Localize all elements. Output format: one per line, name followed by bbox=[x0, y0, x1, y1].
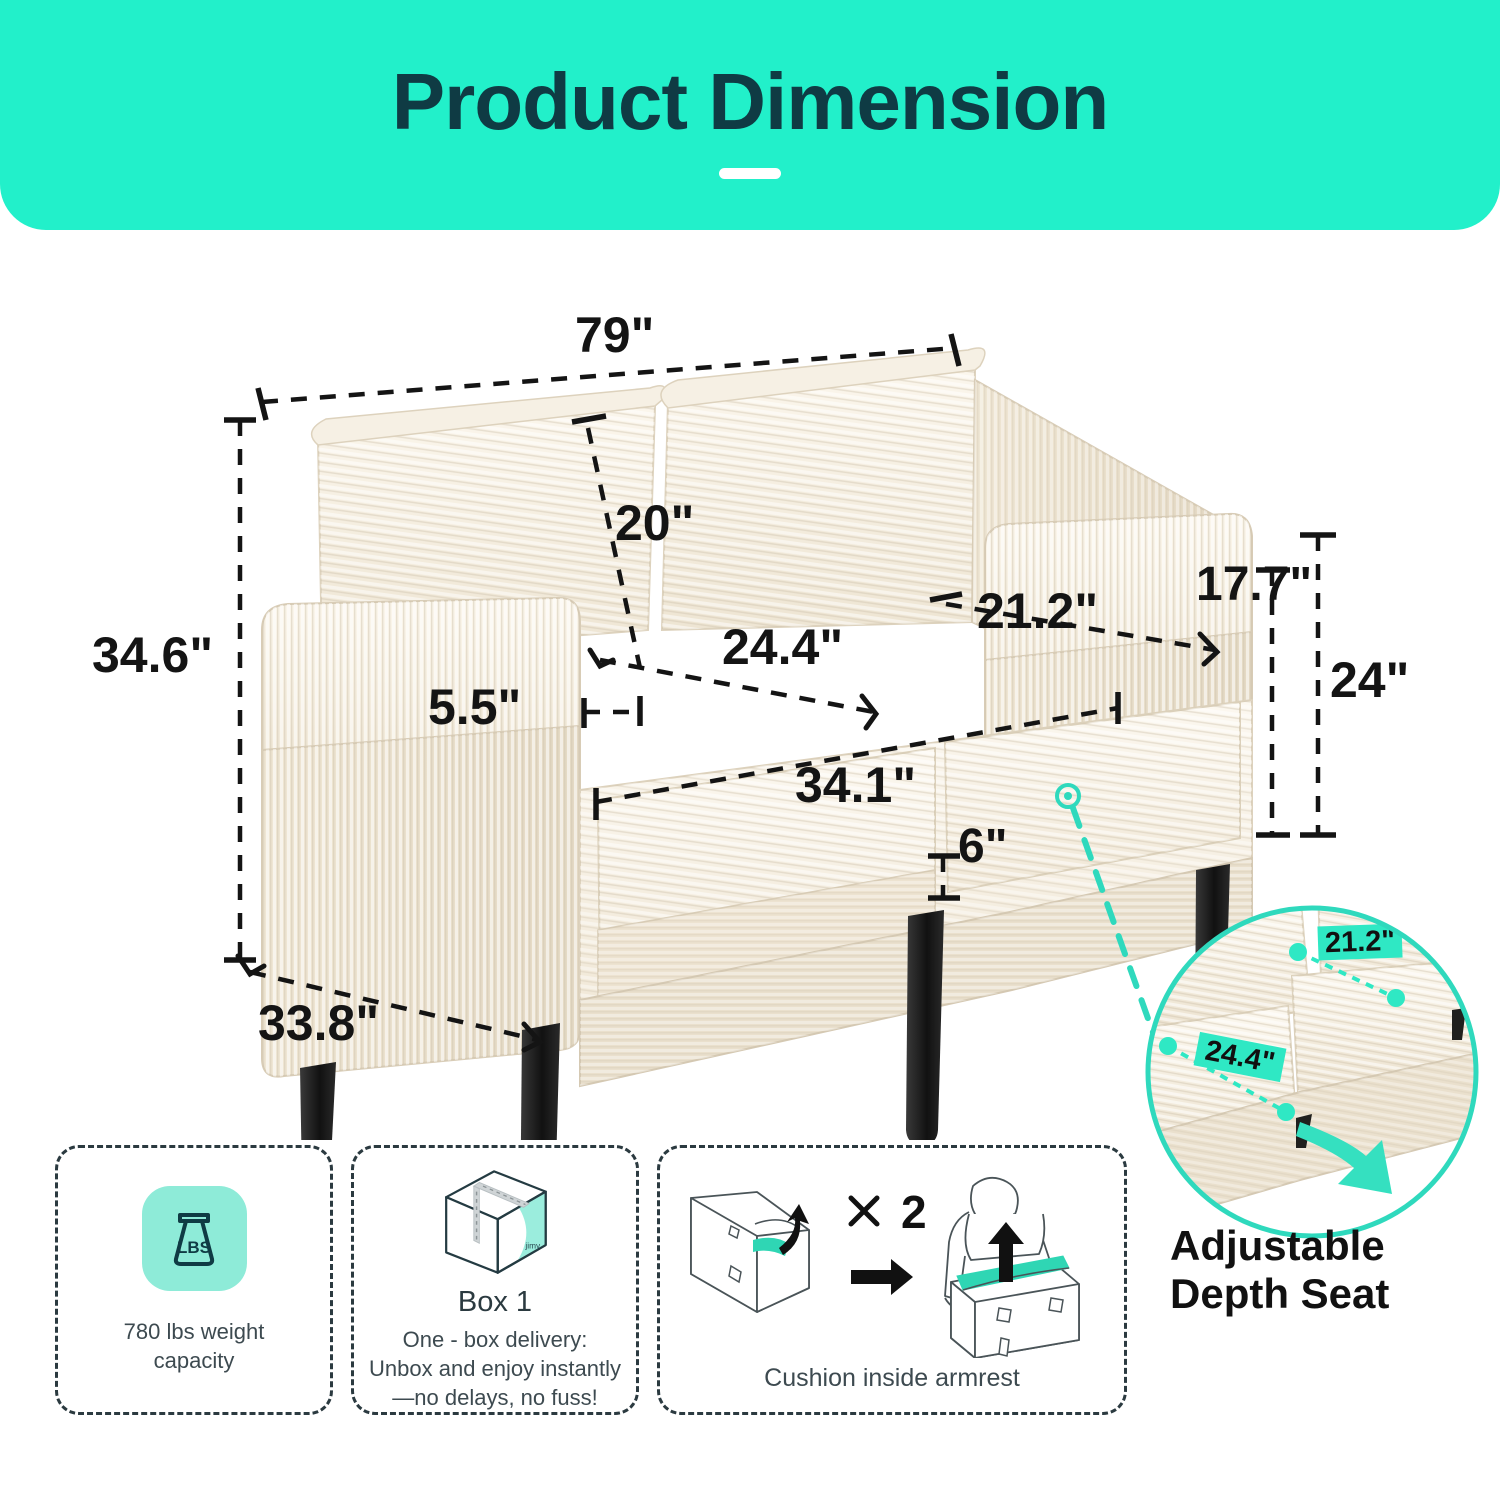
card-box-delivery: jimy Box 1 One - box delivery: Unbox and… bbox=[351, 1145, 639, 1415]
svg-text:LBS: LBS bbox=[177, 1238, 211, 1257]
multiplier-label: 2 bbox=[901, 1186, 927, 1238]
dimension-label-arm-height: 24" bbox=[1330, 655, 1409, 705]
inset-caption-line2: Depth Seat bbox=[1170, 1270, 1500, 1318]
feature-cards: LBS 780 lbs weight capacity jimy Box 1 O… bbox=[55, 1145, 1127, 1415]
box-delivery-text: One - box delivery: Unbox and enjoy inst… bbox=[369, 1325, 621, 1412]
dimension-label-overall-height: 34.6" bbox=[92, 630, 213, 680]
dimension-label-seat-width: 34.1" bbox=[795, 760, 916, 810]
weight-line1: 780 lbs weight bbox=[124, 1317, 265, 1346]
box-brand-label: jimy bbox=[524, 1241, 541, 1251]
dimension-label-leg-height: 6" bbox=[958, 823, 1007, 871]
box-line1: One - box delivery: bbox=[369, 1325, 621, 1354]
dimension-label-back-cushion: 20" bbox=[615, 498, 694, 548]
title-underline-accent bbox=[719, 168, 781, 179]
cushion-unpack-icon: 2 bbox=[669, 1162, 1115, 1358]
dimension-label-seat-height: 17.7" bbox=[1196, 561, 1312, 609]
dimension-label-seat-depth-extended: 24.4" bbox=[722, 622, 843, 672]
card-weight-capacity: LBS 780 lbs weight capacity bbox=[55, 1145, 333, 1415]
weight-capacity-text: 780 lbs weight capacity bbox=[124, 1317, 265, 1375]
cushion-caption: Cushion inside armrest bbox=[764, 1364, 1020, 1393]
dimension-label-overall-width: 79" bbox=[575, 310, 654, 360]
box-line3: —no delays, no fuss! bbox=[369, 1383, 621, 1412]
dimension-label-seat-depth-standard: 21.2" bbox=[977, 586, 1098, 636]
box-title: Box 1 bbox=[458, 1286, 532, 1319]
lbs-weight-icon: LBS bbox=[142, 1186, 247, 1291]
inset-caption: Adjustable Depth Seat bbox=[1170, 1222, 1500, 1318]
shipping-box-icon: jimy bbox=[420, 1164, 570, 1282]
inset-caption-line1: Adjustable bbox=[1170, 1222, 1500, 1270]
page-title: Product Dimension bbox=[392, 62, 1108, 142]
product-dimension-diagram: 79" 20" 24.4" 21.2" 17.7" 24" 34.6" 5.5"… bbox=[0, 230, 1500, 1140]
weight-line2: capacity bbox=[124, 1346, 265, 1375]
dimension-label-overall-depth: 33.8" bbox=[258, 998, 379, 1048]
sofa-illustration bbox=[0, 230, 1500, 1140]
dimension-label-armrest-width: 5.5" bbox=[428, 682, 521, 732]
page-header: Product Dimension bbox=[0, 0, 1500, 230]
box-line2: Unbox and enjoy instantly bbox=[369, 1354, 621, 1383]
card-cushion-armrest: 2 Cushion i bbox=[657, 1145, 1127, 1415]
